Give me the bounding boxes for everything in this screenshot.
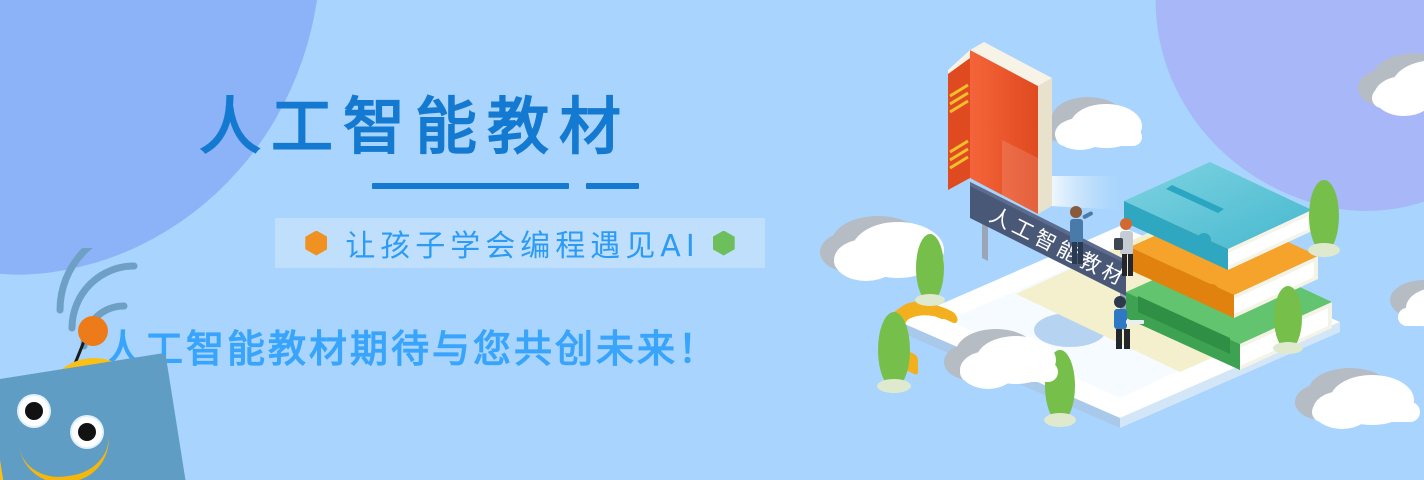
tree-icon-right-far xyxy=(1308,180,1340,257)
subtitle-band: 让孩子学会编程遇见AI xyxy=(275,218,765,268)
antenna-ball-icon xyxy=(78,316,108,346)
title-underline-long xyxy=(372,183,569,189)
cloud-icon-top-mid xyxy=(1043,97,1142,150)
signal-waves-icon xyxy=(54,248,184,368)
page-title: 人工智能教材 xyxy=(0,96,820,158)
cloud-icon-mid-right xyxy=(1390,280,1424,329)
title-underline xyxy=(0,183,820,189)
hexagon-left-icon xyxy=(305,231,327,256)
hexagon-right-icon xyxy=(713,231,735,256)
title-underline-short xyxy=(586,183,639,189)
robot-eye-left xyxy=(19,396,49,426)
illustration-svg: 人工智能教材 xyxy=(820,0,1424,480)
subtitle-text: 让孩子学会编程遇见AI xyxy=(340,221,699,265)
light-beam xyxy=(1050,176,1120,210)
isometric-illustration: 人工智能教材 xyxy=(820,0,1424,480)
cloud-icon-top-right xyxy=(1358,53,1424,116)
cloud-icon-front-right xyxy=(1295,368,1420,429)
standing-book xyxy=(948,42,1052,214)
robot-mascot xyxy=(0,300,202,480)
ai-textbook-banner: 人工智能教材 让孩子学会编程遇见AI 人工智能教材期待与您共创未来！ xyxy=(0,0,1424,480)
